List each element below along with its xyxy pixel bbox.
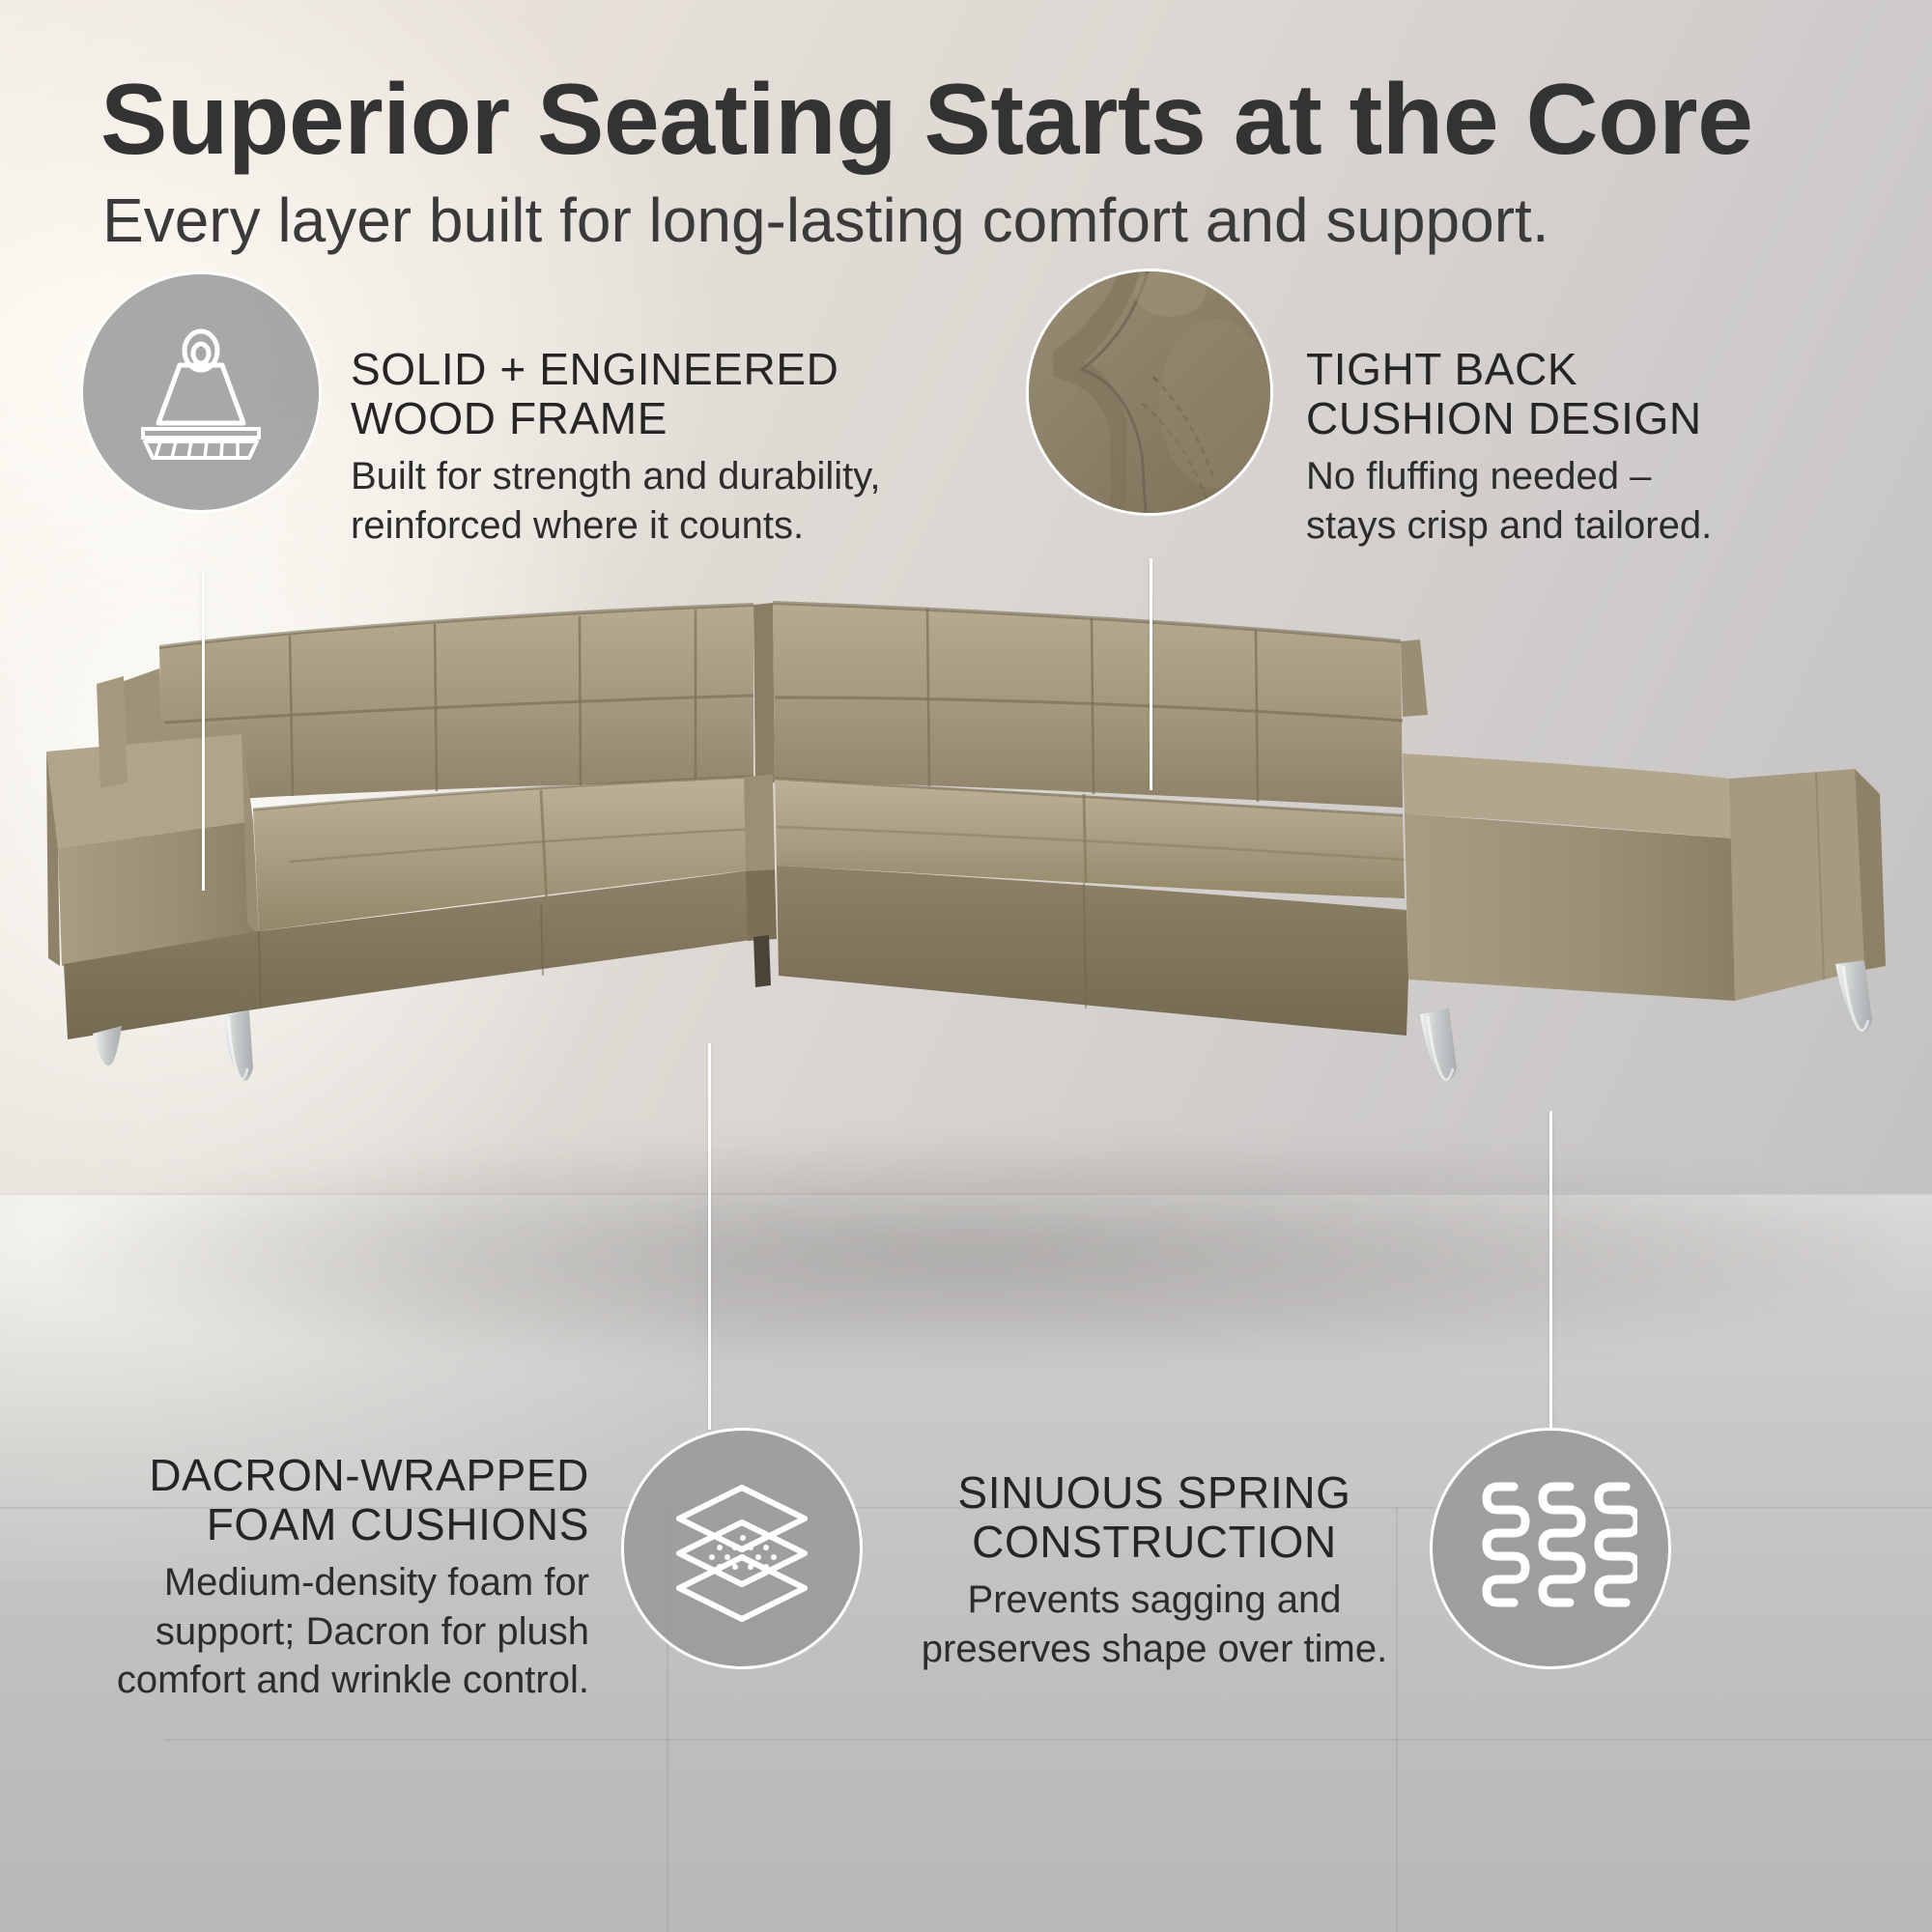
callout-body-dacron-foam: Medium-density foam for support; Dacron … <box>39 1558 589 1704</box>
callout-title-sinuous-spring: SINUOUS SPRING CONSTRUCTION <box>908 1468 1401 1566</box>
bubble-sinuous-spring[interactable] <box>1430 1428 1671 1669</box>
callout-title-tight-back: TIGHT BACK CUSHION DESIGN <box>1306 345 1905 442</box>
callout-body-sinuous-spring: Prevents sagging and preserves shape ove… <box>908 1576 1401 1673</box>
bubble-tight-back[interactable] <box>1026 269 1273 516</box>
leader-line-sinuous-spring <box>1549 1111 1552 1430</box>
leather-seam-closeup <box>1029 269 1270 516</box>
callout-title-dacron-foam: DACRON-WRAPPED FOAM CUSHIONS <box>39 1451 589 1548</box>
leader-line-dacron-foam <box>708 1043 711 1430</box>
weight-on-plank-icon <box>124 315 278 469</box>
callout-title-wood-frame: SOLID + ENGINEERED WOOD FRAME <box>351 345 930 442</box>
leader-line-wood-frame <box>202 572 205 891</box>
page-subtitle: Every layer built for long-lasting comfo… <box>102 189 1549 251</box>
sinuous-spring-icon <box>1463 1462 1637 1635</box>
callout-body-tight-back: No fluffing needed – stays crisp and tai… <box>1306 452 1905 550</box>
sectional-sofa-illustration <box>0 580 1932 1314</box>
layered-cushion-icon <box>660 1466 824 1631</box>
floor-tile-seam <box>164 1739 1932 1741</box>
callout-body-wood-frame: Built for strength and durability, reinf… <box>351 452 930 550</box>
leader-line-tight-back <box>1150 558 1152 790</box>
page-title: Superior Seating Starts at the Core <box>100 70 1752 170</box>
bubble-dacron-foam[interactable] <box>621 1428 863 1669</box>
bubble-wood-frame[interactable] <box>80 271 322 513</box>
